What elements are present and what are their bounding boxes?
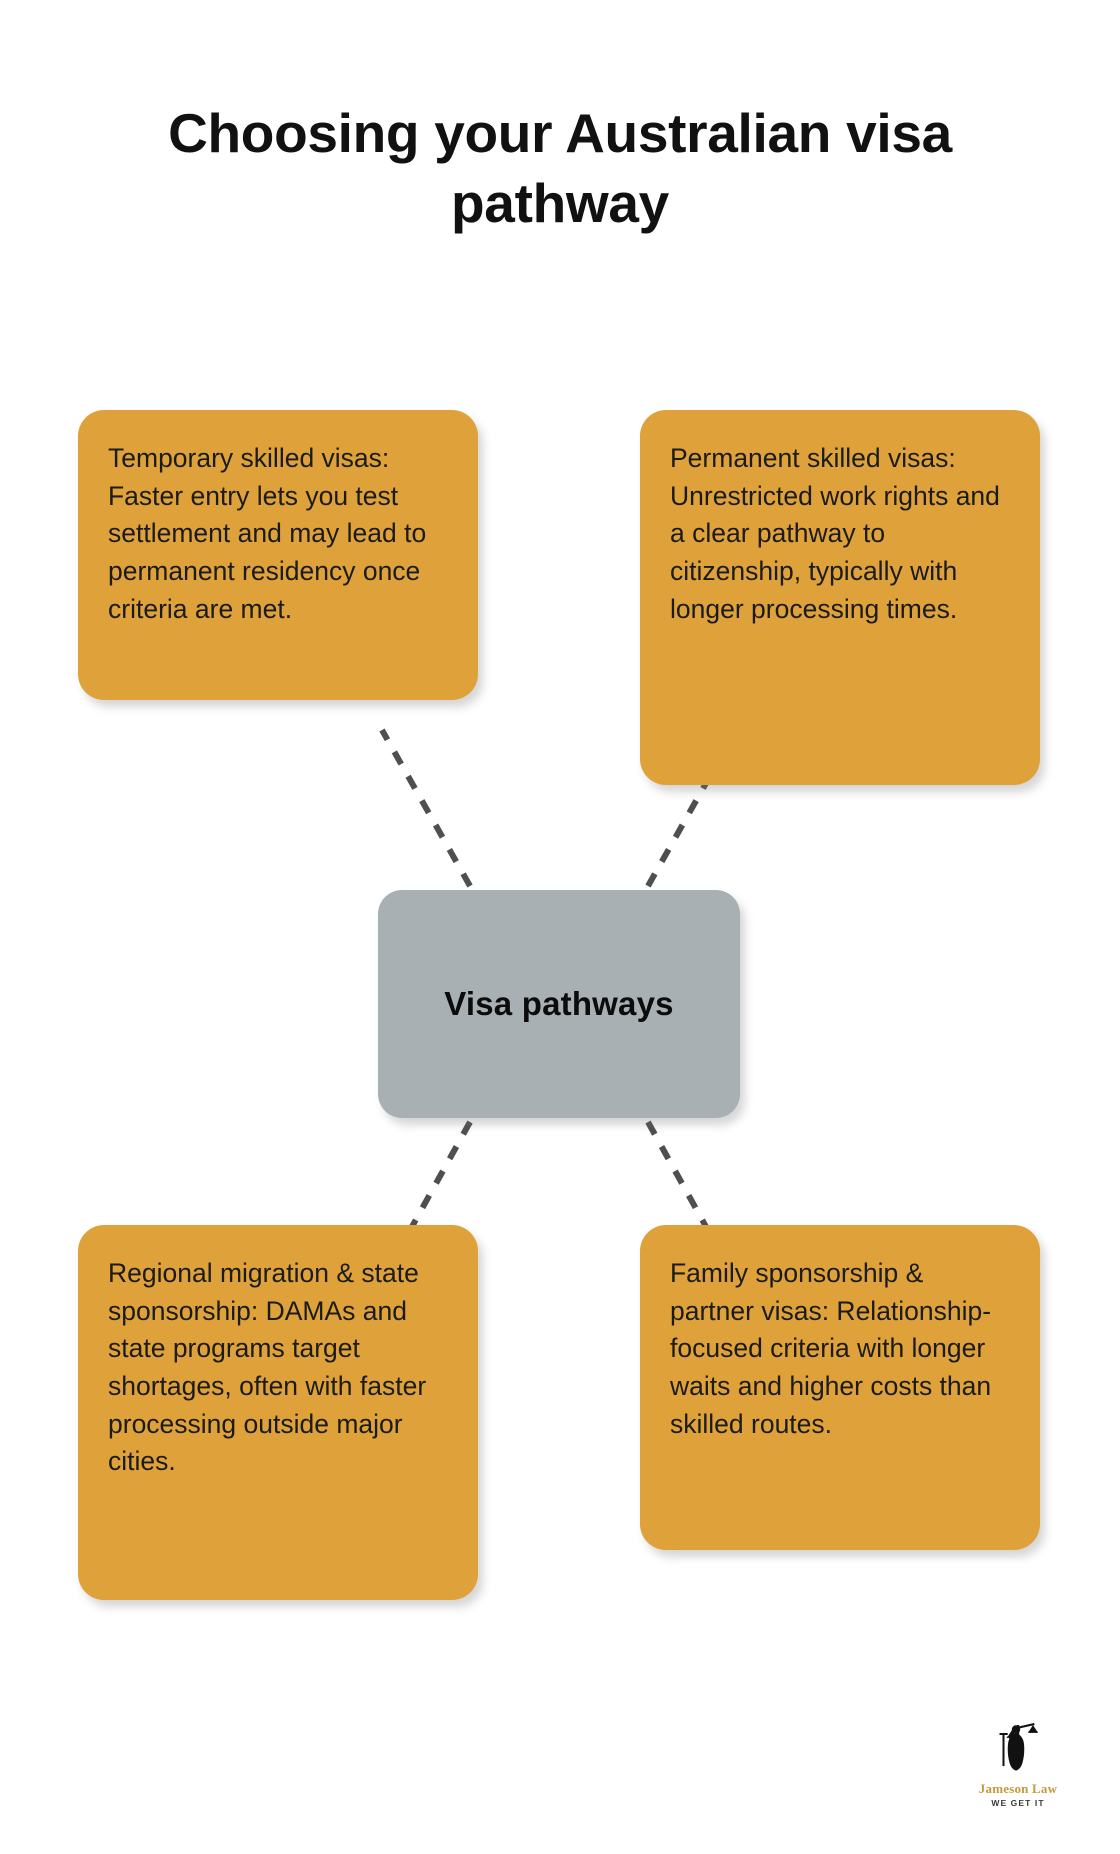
center-node-visa-pathways[interactable]: Visa pathways xyxy=(378,890,740,1118)
connector-center-to-top-left xyxy=(382,730,470,886)
node-card-text: Family sponsorship & partner visas: Rela… xyxy=(670,1255,1006,1443)
center-node-label: Visa pathways xyxy=(444,985,673,1023)
page-title: Choosing your Australian visa pathway xyxy=(70,98,1050,239)
node-card-text: Permanent skilled visas: Unrestricted wo… xyxy=(670,440,1006,628)
node-card-family-sponsorship-partner-visas[interactable]: Family sponsorship & partner visas: Rela… xyxy=(640,1225,1040,1550)
logo-company-name: Jameson Law xyxy=(968,1781,1068,1797)
lady-justice-scales-icon xyxy=(986,1720,1050,1780)
brand-logo: Jameson Law WE GET IT xyxy=(968,1720,1068,1808)
logo-tagline: WE GET IT xyxy=(968,1798,1068,1808)
node-card-text: Temporary skilled visas: Faster entry le… xyxy=(108,440,444,628)
node-card-text: Regional migration & state sponsorship: … xyxy=(108,1255,444,1481)
infographic-canvas: Choosing your Australian visa pathway Te… xyxy=(0,0,1120,1854)
node-card-permanent-skilled-visas[interactable]: Permanent skilled visas: Unrestricted wo… xyxy=(640,410,1040,785)
node-card-regional-migration-state-sponsorship[interactable]: Regional migration & state sponsorship: … xyxy=(78,1225,478,1600)
node-card-temporary-skilled-visas[interactable]: Temporary skilled visas: Faster entry le… xyxy=(78,410,478,700)
